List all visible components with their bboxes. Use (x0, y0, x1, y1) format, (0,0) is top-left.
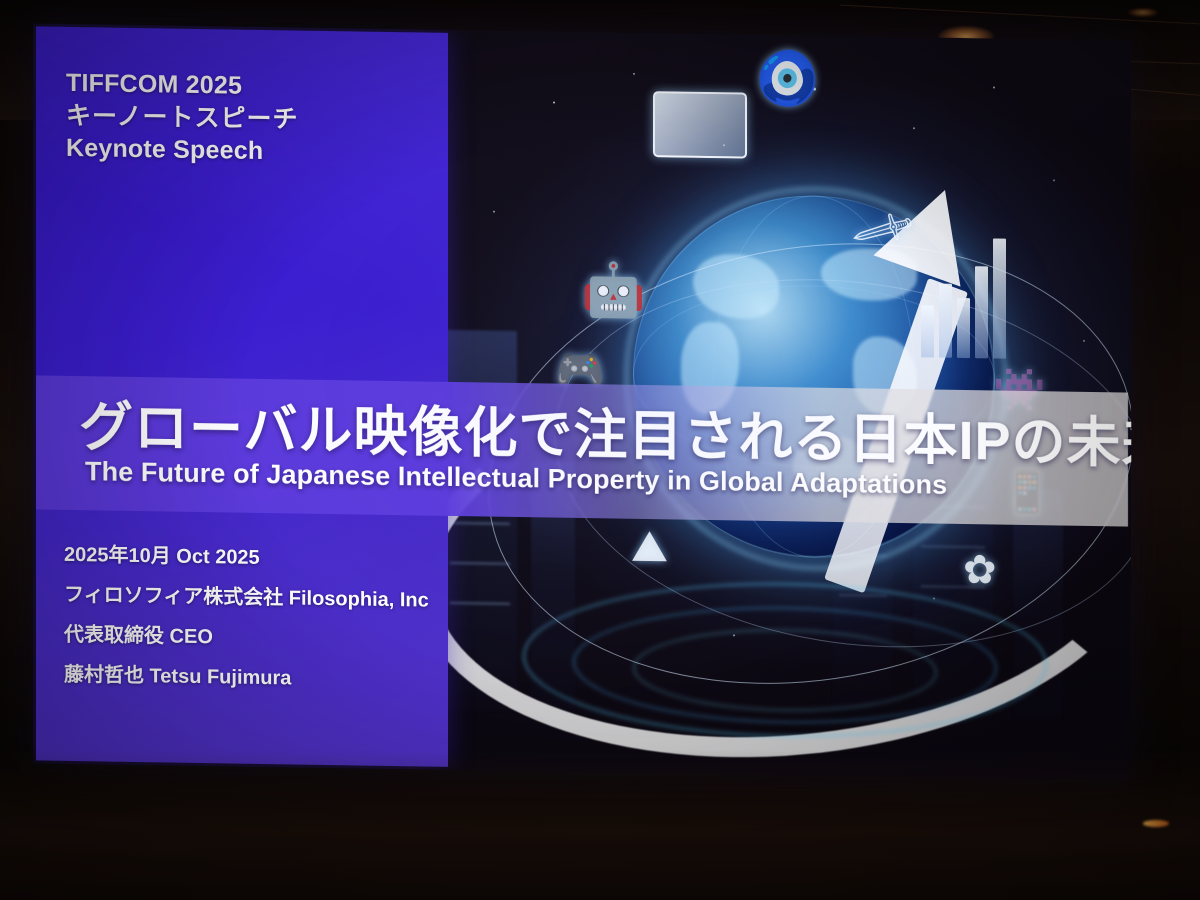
star (913, 127, 915, 129)
slide-credits: 2025年10月 Oct 2025 フィロソフィア株式会社 Filosophia… (64, 545, 454, 711)
star (553, 102, 555, 104)
eyebrow-line-1: TIFFCOM 2025 (66, 67, 426, 105)
floor-light (1143, 820, 1169, 827)
mecha-robot-icon: 🤖 (581, 264, 646, 317)
auditorium-scene: 🧿 🤖 🎮 🗡 👾 📱 ✿ ⛰ TIFFCOM 2025 キーノートスピーチ K… (0, 0, 1200, 900)
ninja-character-icon: 🧿 (755, 53, 820, 106)
manga-panel-icon (653, 91, 747, 158)
bar-chart-icon (921, 237, 1031, 359)
credit-role: 代表取締役 CEO (64, 625, 454, 652)
eyebrow-line-3: Keynote Speech (66, 132, 426, 170)
floor (0, 750, 1200, 900)
star (993, 86, 995, 88)
slide-eyebrow: TIFFCOM 2025 キーノートスピーチ Keynote Speech (66, 67, 426, 170)
ceiling-spotlight (1128, 8, 1158, 17)
projected-slide: 🧿 🤖 🎮 🗡 👾 📱 ✿ ⛰ TIFFCOM 2025 キーノートスピーチ K… (33, 23, 1131, 780)
star (633, 73, 635, 75)
credit-company: フィロソフィア株式会社 Filosophia, Inc (64, 585, 454, 612)
sakura-blossom-icon: ✿ (963, 550, 997, 591)
credit-name: 藤村哲也 Tetsu Fujimura (64, 665, 454, 692)
mount-fuji-icon: ⛰ (631, 525, 668, 570)
